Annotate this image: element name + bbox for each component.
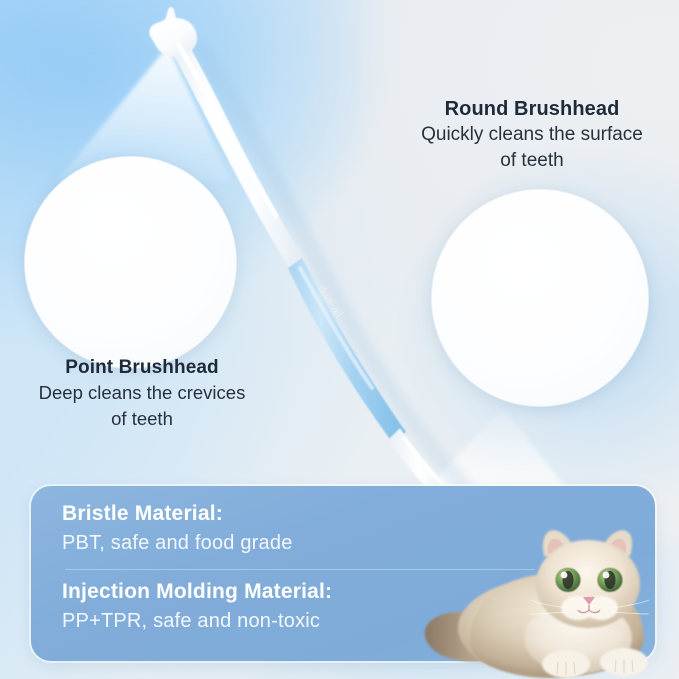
callout-round-brushhead: Round Brushhead Quickly cleans the surfa… [396, 96, 668, 174]
material-spec-panel: Bristle Material: PBT, safe and food gra… [31, 486, 655, 661]
magnifier-backdrop-left [25, 157, 236, 368]
spec-bristle-material-value: PBT, safe and food grade [62, 528, 293, 558]
spec-divider [65, 569, 535, 570]
callout-round-brushhead-line1: Quickly cleans the surface [396, 122, 668, 148]
callout-round-brushhead-line2: of teeth [396, 148, 668, 174]
callout-point-brushhead: Point Brushhead Deep cleans the crevices… [2, 355, 282, 432]
spec-injection-molding-material-label: Injection Molding Material: [62, 578, 332, 606]
magnifier-backdrop-right [432, 190, 648, 406]
spec-bristle-material: Bristle Material: PBT, safe and food gra… [62, 500, 293, 558]
spec-injection-molding-material-value: PP+TPR, safe and non-toxic [62, 606, 332, 636]
callout-point-brushhead-line1: Deep cleans the crevices [2, 380, 282, 406]
magnifier-point-brushhead [25, 157, 236, 368]
magnifier-round-brushhead [432, 190, 648, 406]
callout-point-brushhead-title: Point Brushhead [2, 355, 282, 380]
spec-bristle-material-label: Bristle Material: [62, 500, 293, 528]
callout-point-brushhead-line2: of teeth [2, 406, 282, 432]
spec-injection-molding-material: Injection Molding Material: PP+TPR, safe… [62, 578, 332, 636]
callout-round-brushhead-title: Round Brushhead [396, 96, 668, 122]
product-infographic: dual-all Round Brushhead Quickly cleans … [0, 0, 679, 679]
